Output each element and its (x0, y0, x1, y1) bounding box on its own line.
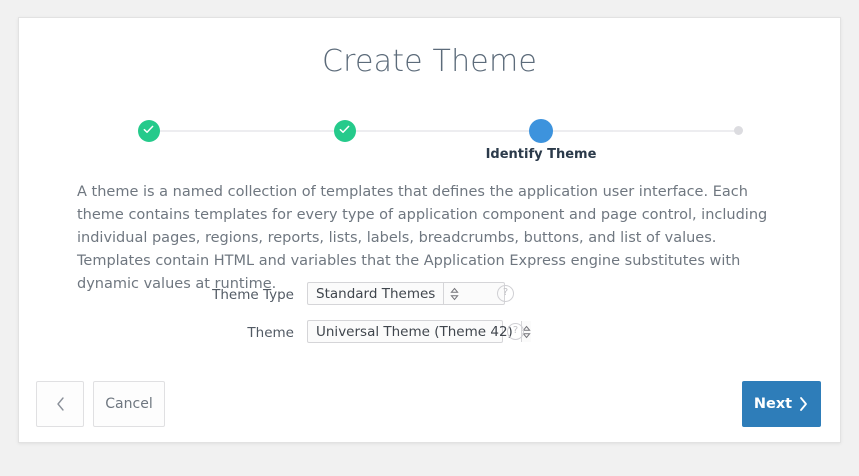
form-row-theme-type: Theme Type Standard Themes ? (19, 282, 840, 320)
form-row-theme: Theme Universal Theme (Theme 42) ? (19, 320, 840, 358)
stepper-connector-line-3 (541, 130, 738, 132)
theme-type-select[interactable]: Standard Themes (307, 282, 505, 305)
wizard-footer: Cancel Next (19, 364, 840, 442)
stepper-connector-line-2 (345, 130, 541, 132)
wizard-progress-stepper: Identify Theme (19, 104, 840, 164)
chevron-up-down-icon (450, 287, 459, 301)
theme-form: Theme Type Standard Themes ? Theme Unive… (19, 282, 840, 358)
theme-type-select-value: Standard Themes (308, 283, 443, 304)
stepper-current-step-label: Identify Theme (441, 147, 641, 162)
next-button[interactable]: Next (742, 381, 821, 427)
chevron-left-icon (55, 396, 66, 412)
page-title: Create Theme (19, 44, 840, 79)
theme-type-help-icon[interactable]: ? (497, 285, 514, 302)
theme-select[interactable]: Universal Theme (Theme 42) (307, 320, 503, 343)
cancel-button[interactable]: Cancel (93, 381, 165, 427)
theme-type-label: Theme Type (79, 287, 294, 303)
theme-help-icon[interactable]: ? (507, 323, 524, 340)
check-icon (339, 124, 350, 135)
stepper-step-1-complete[interactable] (138, 120, 160, 142)
theme-select-value: Universal Theme (Theme 42) (308, 321, 521, 342)
back-button[interactable] (36, 381, 84, 427)
check-icon (143, 124, 154, 135)
stepper-connector-line-1 (149, 130, 345, 132)
stepper-step-4-upcoming[interactable] (734, 126, 743, 135)
create-theme-wizard-card: Create Theme Identify Theme A theme is a… (18, 17, 841, 443)
chevron-right-icon (798, 396, 809, 412)
next-button-label: Next (754, 396, 792, 412)
theme-label: Theme (79, 325, 294, 341)
theme-description-text: A theme is a named collection of templat… (77, 181, 783, 296)
stepper-step-2-complete[interactable] (334, 120, 356, 142)
stepper-step-3-current[interactable] (529, 119, 553, 143)
theme-type-select-spinner[interactable] (443, 283, 465, 304)
